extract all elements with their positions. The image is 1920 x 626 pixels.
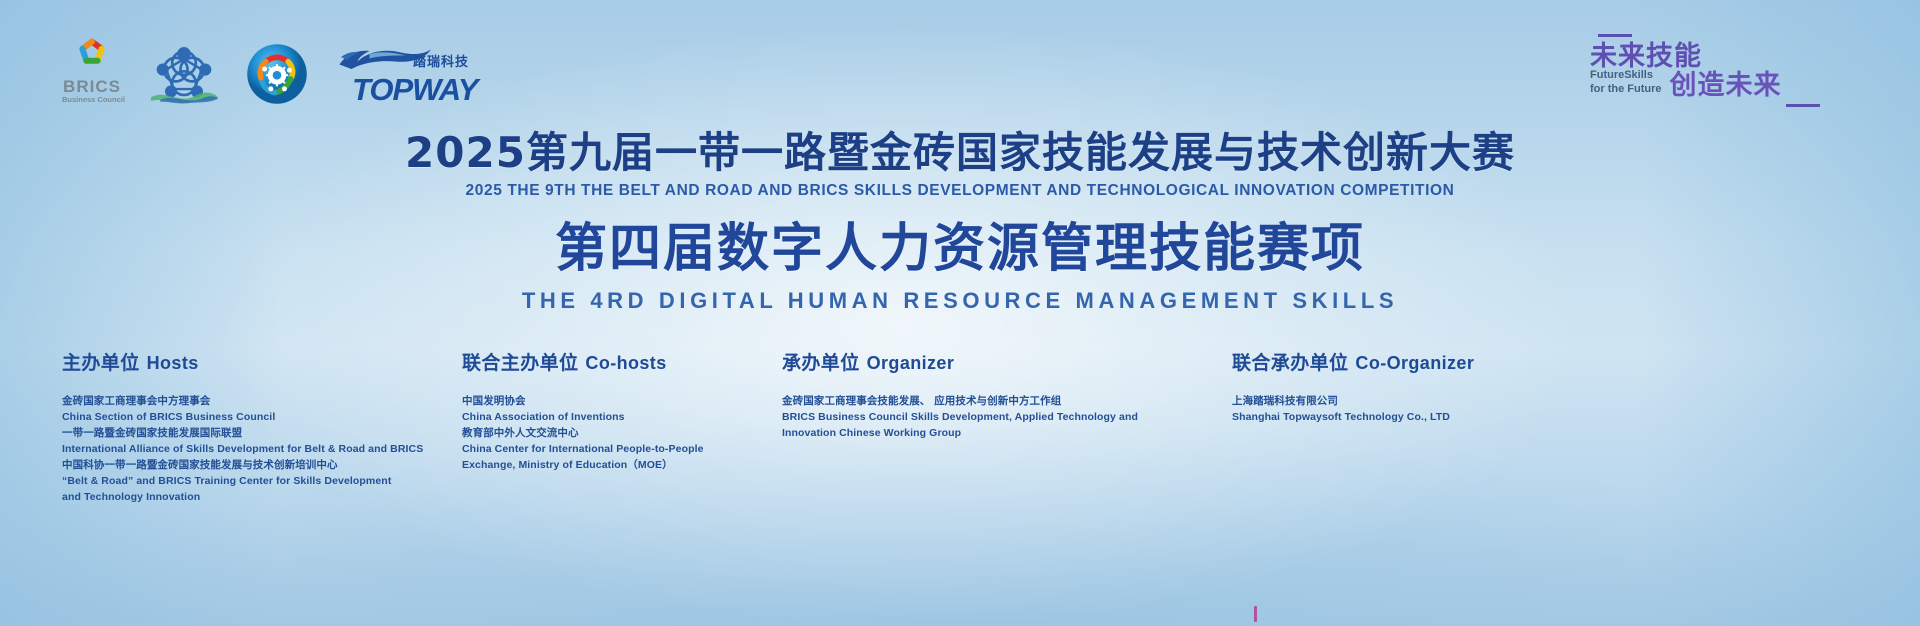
slogan-line-1: 未来技能	[1590, 43, 1840, 71]
future-skills-slogan: 未来技能 FutureSkills for the Future 创造未来	[1590, 34, 1840, 107]
organizer-heading: 联合承办单位 Co-Organizer	[1232, 348, 1474, 375]
topway-chinese-name: 踏瑞科技	[413, 51, 469, 70]
brics-star-icon	[72, 36, 112, 76]
event-title-en: THE 4RD DIGITAL HUMAN RESOURCE MANAGEMEN…	[0, 288, 1920, 314]
topway-wordmark: TOPWAY	[352, 74, 477, 105]
organizer-heading-cn: 联合主办单位	[462, 352, 578, 374]
organizer-entry: 中国科协一带一路暨金砖国家技能发展与技术创新培训中心	[62, 458, 462, 474]
organizer-columns: 主办单位 Hosts 金砖国家工商理事会中方理事会 China Section …	[0, 348, 1920, 506]
organizer-entry: China Association of Inventions	[462, 410, 782, 426]
skills-alliance-logo	[148, 43, 220, 105]
organizer-entry: China Section of BRICS Business Council	[62, 410, 462, 426]
brics-business-council-logo: BRICS Business Council	[62, 36, 122, 105]
organizer-column-cohosts: 联合主办单位 Co-hosts 中国发明协会 China Association…	[462, 348, 782, 506]
organizer-entry: Shanghai Topwaysoft Technology Co., LTD	[1232, 410, 1474, 426]
organizer-heading-en: Co-hosts	[585, 353, 666, 373]
event-title-cn: 第四届数字人力资源管理技能赛项	[0, 218, 1920, 280]
organizer-entry: 教育部中外人文交流中心	[462, 426, 782, 442]
sponsor-logo-strip: BRICS Business Council	[62, 36, 469, 105]
organizer-heading-cn: 主办单位	[62, 352, 140, 374]
organizer-heading: 联合主办单位 Co-hosts	[462, 348, 782, 375]
brics-globe-logo	[246, 43, 308, 105]
organizer-heading-cn: 承办单位	[782, 352, 860, 374]
organizer-entry: 上海踏瑞科技有限公司	[1232, 394, 1474, 410]
slogan-line-2: 创造未来	[1670, 72, 1782, 100]
slogan-rule-bottom	[1786, 104, 1820, 107]
organizer-heading: 承办单位 Organizer	[782, 348, 1232, 375]
organizer-column-hosts: 主办单位 Hosts 金砖国家工商理事会中方理事会 China Section …	[62, 348, 462, 506]
organizer-heading-en: Co-Organizer	[1355, 353, 1474, 373]
organizer-entry: BRICS Business Council Skills Developmen…	[782, 410, 1232, 442]
organizer-heading-cn: 联合承办单位	[1232, 352, 1348, 374]
organizer-entry: China Center for International People-to…	[462, 442, 782, 474]
organizer-column-organizer: 承办单位 Organizer 金砖国家工商理事会技能发展、 应用技术与创新中方工…	[782, 348, 1232, 506]
organizer-column-coorganizer: 联合承办单位 Co-Organizer 上海踏瑞科技有限公司 Shanghai …	[1232, 348, 1474, 506]
competition-title-cn: 2025第九届一带一路暨金砖国家技能发展与技术创新大赛	[0, 128, 1920, 178]
organizer-entry: “Belt & Road” and BRICS Training Center …	[62, 474, 462, 506]
organizer-entry: 中国发明协会	[462, 394, 782, 410]
title-block: 2025第九届一带一路暨金砖国家技能发展与技术创新大赛 2025 THE 9TH…	[0, 128, 1920, 314]
organizer-heading: 主办单位 Hosts	[62, 348, 462, 375]
topway-logo: 踏瑞科技 TOPWAY	[334, 45, 469, 105]
organizer-entry: 一带一路暨金砖国家技能发展国际联盟	[62, 426, 462, 442]
organizer-entry: 金砖国家工商理事会中方理事会	[62, 394, 462, 410]
brics-sub-label: Business Council	[62, 95, 122, 105]
slogan-english: FutureSkills for the Future	[1590, 69, 1662, 100]
organizer-heading-en: Hosts	[147, 353, 199, 373]
slogan-rule-top	[1598, 34, 1632, 37]
organizer-entry: 金砖国家工商理事会技能发展、 应用技术与创新中方工作组	[782, 394, 1232, 410]
organizer-entry: International Alliance of Skills Develop…	[62, 442, 462, 458]
competition-title-en: 2025 THE 9TH THE BELT AND ROAD AND BRICS…	[0, 182, 1920, 200]
brics-wordmark: BRICS	[62, 78, 122, 95]
bottom-center-marker	[1254, 606, 1257, 622]
organizer-heading-en: Organizer	[867, 353, 955, 373]
